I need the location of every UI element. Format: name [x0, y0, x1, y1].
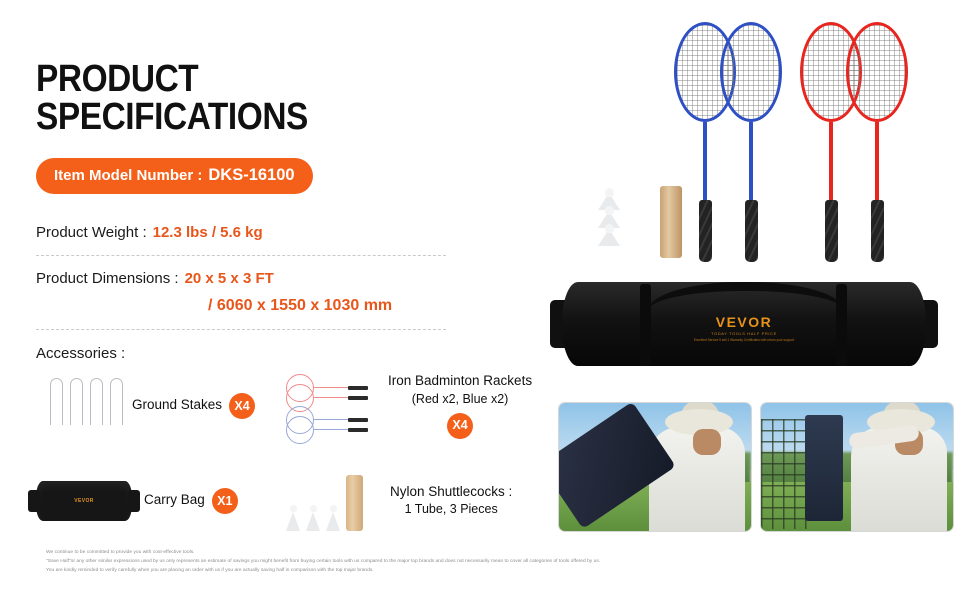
carry-bag-icon: VEVOR	[36, 465, 132, 537]
spec-label-weight: Product Weight :	[36, 224, 147, 241]
spec-value-dimensions-mm: / 6060 x 1550 x 1030 mm	[36, 297, 506, 315]
shuttlecock-stack-photo	[598, 188, 620, 246]
model-number-value: DKS-16100	[208, 166, 294, 185]
spec-value-dimensions: 20 x 5 x 3 FT	[185, 270, 274, 287]
bag-brand-print: VEVOR TODAY TOOLS HALF PRICE Excellent S…	[694, 314, 794, 342]
carry-bag-product-photo: VEVOR TODAY TOOLS HALF PRICE Excellent S…	[548, 276, 940, 372]
accessories-grid: Ground Stakes X4 Iron Badminton Rackets …	[36, 358, 536, 548]
spec-value-weight: 12.3 lbs / 5.6 kg	[153, 224, 263, 241]
accessory-label-shuttlecocks: Nylon Shuttlecocks :	[390, 484, 512, 499]
accessory-rackets: Iron Badminton Rackets (Red x2, Blue x2)…	[286, 370, 532, 442]
shuttlecocks-icon	[286, 465, 382, 537]
specifications-column: PRODUCT SPECIFICATIONS Item Model Number…	[36, 60, 506, 362]
accessory-carry-bag: VEVOR Carry Bag X1	[36, 465, 286, 537]
spec-row-dimensions: Product Dimensions : 20 x 5 x 3 FT	[36, 270, 506, 287]
badminton-rackets-icon	[286, 370, 382, 442]
product-spec-page: PRODUCT SPECIFICATIONS Item Model Number…	[0, 0, 970, 600]
spec-row-weight: Product Weight : 12.3 lbs / 5.6 kg	[36, 224, 506, 241]
model-number-label: Item Model Number :	[54, 167, 202, 184]
spec-label-dimensions: Product Dimensions :	[36, 270, 179, 287]
shuttlecock-tube-icon	[346, 475, 363, 531]
lifestyle-photo-carrying-bag	[558, 402, 752, 532]
footer-disclaimer: We continue to be committed to provide y…	[46, 548, 926, 575]
accessory-label-ground-stakes: Ground Stakes	[132, 396, 222, 414]
footer-line-2: "Save Half"or any other similar expressi…	[46, 557, 926, 566]
shuttlecock-tube-photo	[660, 186, 682, 258]
accessory-label-rackets: Iron Badminton Rackets	[388, 373, 532, 388]
page-title: PRODUCT SPECIFICATIONS	[36, 60, 450, 136]
carry-bag-icon-brand: VEVOR	[74, 498, 94, 504]
footer-line-1: We continue to be committed to provide y…	[46, 548, 926, 557]
accessory-qty-rackets: X4	[447, 413, 473, 439]
rackets-product-photo	[672, 22, 922, 262]
ground-stakes-icon	[36, 370, 132, 442]
accessory-shuttlecocks: Nylon Shuttlecocks : 1 Tube, 3 Pieces	[286, 465, 512, 537]
lifestyle-photo-setting-up-net	[760, 402, 954, 532]
accessory-ground-stakes: Ground Stakes X4	[36, 370, 286, 442]
accessory-row-1: Ground Stakes X4 Iron Badminton Rackets …	[36, 358, 536, 453]
accessory-qty-ground-stakes: X4	[229, 393, 255, 419]
accessory-qty-carry-bag: X1	[212, 488, 238, 514]
model-number-pill: Item Model Number : DKS-16100	[36, 158, 313, 194]
accessory-detail-rackets: (Red x2, Blue x2)	[388, 391, 532, 408]
bag-brand-name: VEVOR	[694, 314, 794, 330]
bag-brand-subtagline: Excellent Service 5 sell 1 Warranty Cert…	[694, 338, 794, 342]
accessory-label-carry-bag: Carry Bag	[144, 491, 205, 509]
bag-brand-tagline: TODAY TOOLS HALF PRICE	[694, 331, 794, 336]
accessory-detail-shuttlecocks: 1 Tube, 3 Pieces	[390, 501, 512, 518]
footer-line-3: You are kindly reminded to verify carefu…	[46, 566, 926, 575]
accessory-row-2: VEVOR Carry Bag X1	[36, 453, 536, 548]
